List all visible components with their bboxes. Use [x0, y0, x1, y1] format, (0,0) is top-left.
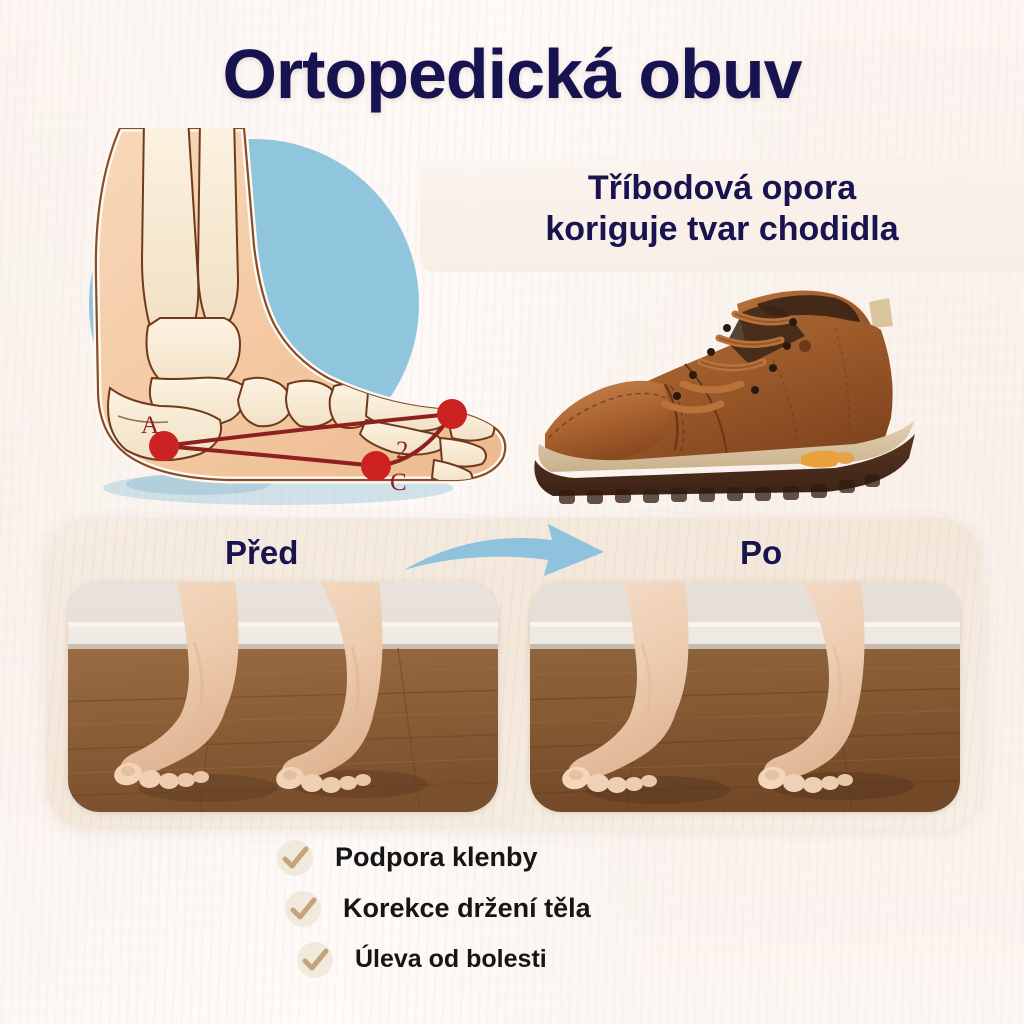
benefit-item-1: Podpora klenby: [275, 834, 795, 881]
subtitle-text: Tříbodová opora koriguje tvar chodidla: [420, 168, 1024, 251]
benefit-item-2: Korekce držení těla: [275, 885, 795, 932]
after-photo: [530, 582, 960, 812]
heel-pull-tab: [869, 298, 893, 328]
support-label-c: C: [390, 469, 407, 496]
product-shoe-image: [505, 268, 935, 530]
support-label-a: A: [141, 412, 159, 439]
benefit-item-3: Úleva od bolesti: [275, 936, 795, 983]
benefits-list: Podpora klenby Korekce držení těla Úleva…: [275, 834, 795, 987]
check-icon: [275, 838, 315, 878]
check-icon: [295, 940, 335, 980]
before-photo: [68, 582, 498, 812]
benefit-label: Úleva od bolesti: [355, 945, 547, 974]
check-icon: [283, 889, 323, 929]
subtitle-line-2: koriguje tvar chodidla: [420, 209, 1024, 250]
support-point-c: [361, 451, 391, 481]
subtitle-line-1: Tříbodová opora: [420, 168, 1024, 209]
benefit-label: Korekce držení těla: [343, 893, 591, 924]
after-label: Po: [740, 534, 782, 572]
benefit-label: Podpora klenby: [335, 842, 538, 873]
page-title: Ortopedická obuv: [0, 34, 1024, 114]
support-point-b: [437, 399, 467, 429]
support-label-b: 2: [396, 437, 409, 464]
shoe-side-hook: [799, 340, 811, 352]
before-label: Před: [225, 534, 298, 572]
transition-arrow-icon: [398, 516, 618, 588]
